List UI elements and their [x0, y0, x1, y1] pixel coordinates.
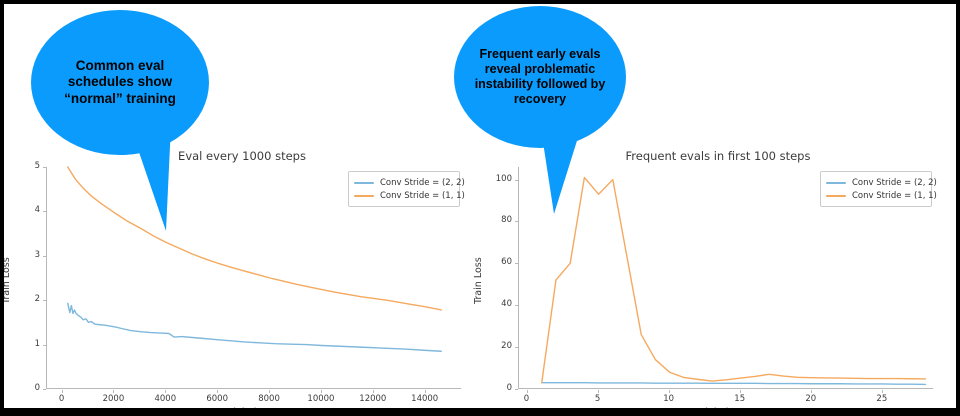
xtick-mark [425, 390, 426, 393]
xtick-label: 14000 [395, 394, 455, 404]
series-line-0 [68, 303, 442, 351]
xtick-label: 25 [852, 394, 912, 404]
ytick-label: 40 [486, 299, 512, 309]
ytick-label: 0 [486, 383, 512, 393]
xtick-mark [669, 390, 670, 393]
legend-item-conv-stride-1-1: Conv Stride = (1, 1) [354, 189, 453, 202]
xtick-mark [740, 390, 741, 393]
xtick-label: 15 [710, 394, 770, 404]
ytick-mark [43, 256, 46, 257]
ytick-mark [43, 345, 46, 346]
xtick-mark [882, 390, 883, 393]
xtick-label: 0 [497, 394, 557, 404]
xtick-mark [373, 390, 374, 393]
ytick-mark [515, 389, 518, 390]
xtick-mark [321, 390, 322, 393]
legend-item-conv-stride-2-2: Conv Stride = (2, 2) [354, 176, 453, 189]
callout-left-body: Common evalschedules show“normal” traini… [31, 10, 209, 155]
series-line-0 [542, 383, 926, 385]
xtick-label: 5 [568, 394, 628, 404]
legend-swatch-series-0 [354, 182, 374, 184]
ytick-label: 60 [486, 257, 512, 267]
legend-swatch-series-1 [354, 195, 374, 197]
left-chart-ylabel: Train Loss [4, 257, 12, 304]
xtick-mark [217, 390, 218, 393]
xtick-mark [527, 390, 528, 393]
xtick-mark [598, 390, 599, 393]
xtick-mark [269, 390, 270, 393]
legend-swatch-series-1 [826, 195, 846, 197]
ytick-mark [43, 300, 46, 301]
xtick-mark [165, 390, 166, 393]
right-chart-xlabel: Global Step [518, 407, 933, 408]
ytick-label: 0 [14, 383, 40, 393]
right-chart-legend[interactable]: Conv Stride = (2, 2) Conv Stride = (1, 1… [820, 171, 932, 207]
ytick-mark [515, 305, 518, 306]
screenshot-root: Eval every 1000 steps Train Loss Global … [0, 0, 960, 416]
ytick-label: 20 [486, 341, 512, 351]
callout-left-text: Common evalschedules show“normal” traini… [50, 58, 190, 107]
legend-label-series-0: Conv Stride = (2, 2) [852, 178, 937, 188]
legend-item-conv-stride-2-2: Conv Stride = (2, 2) [826, 176, 925, 189]
callout-left: Common evalschedules show“normal” traini… [31, 10, 209, 231]
figure-canvas: Eval every 1000 steps Train Loss Global … [4, 4, 956, 408]
legend-label-series-0: Conv Stride = (2, 2) [380, 178, 465, 188]
ytick-mark [515, 263, 518, 264]
legend-label-series-1: Conv Stride = (1, 1) [852, 191, 937, 201]
legend-label-series-1: Conv Stride = (1, 1) [380, 191, 465, 201]
ytick-label: 3 [14, 250, 40, 260]
ytick-mark [515, 221, 518, 222]
ytick-label: 1 [14, 339, 40, 349]
ytick-label: 80 [486, 215, 512, 225]
xtick-mark [62, 390, 63, 393]
legend-swatch-series-0 [826, 182, 846, 184]
xtick-label: 20 [781, 394, 841, 404]
left-chart-xlabel: Global Step [46, 407, 461, 408]
xtick-mark [113, 390, 114, 393]
right-chart-ylabel: Train Loss [473, 257, 484, 304]
ytick-mark [515, 347, 518, 348]
callout-right: Frequent early evalsreveal problematicin… [454, 6, 626, 214]
legend-item-conv-stride-1-1: Conv Stride = (1, 1) [826, 189, 925, 202]
xtick-label: 10 [639, 394, 699, 404]
callout-right-body: Frequent early evalsreveal problematicin… [454, 6, 626, 148]
ytick-mark [43, 389, 46, 390]
left-chart-legend[interactable]: Conv Stride = (2, 2) Conv Stride = (1, 1… [348, 171, 460, 207]
callout-right-text: Frequent early evalsreveal problematicin… [461, 47, 620, 108]
ytick-label: 2 [14, 294, 40, 304]
xtick-mark [811, 390, 812, 393]
